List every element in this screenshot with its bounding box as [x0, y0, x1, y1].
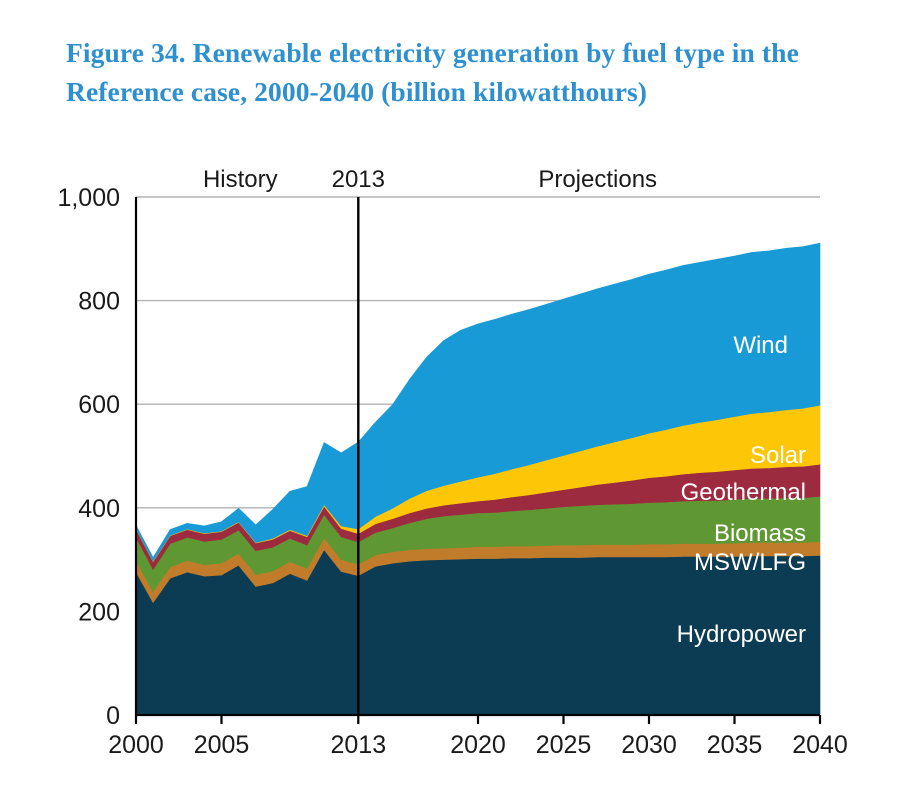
- y-tick-label-600: 600: [78, 391, 120, 419]
- series-label-biomass: Biomass: [714, 520, 806, 547]
- x-tick-label-2020: 2020: [450, 731, 506, 759]
- region-annotations: History 2013 Projections: [203, 166, 657, 193]
- series-label-wind: Wind: [733, 332, 788, 359]
- series-label-geothermal: Geothermal: [681, 479, 806, 506]
- y-axis-tick-labels: 02004006008001,000: [57, 184, 120, 730]
- series-label-msw-lfg: MSW/LFG: [694, 549, 806, 576]
- annotation-history: History: [203, 166, 278, 193]
- x-tick-label-2030: 2030: [621, 731, 677, 759]
- annotation-divider-year: 2013: [332, 166, 385, 193]
- x-tick-label-2025: 2025: [536, 731, 592, 759]
- chart-area: 02004006008001,000 200020052013202020252…: [0, 0, 900, 800]
- series-label-hydropower: Hydropower: [677, 621, 806, 648]
- annotation-projections: Projections: [538, 166, 657, 193]
- x-axis-tick-labels: 20002005201320202025203020352040: [108, 731, 848, 759]
- series-label-solar: Solar: [750, 442, 806, 469]
- y-tick-label-1000: 1,000: [57, 184, 120, 212]
- x-tick-label-2040: 2040: [792, 731, 848, 759]
- x-tick-label-2000: 2000: [108, 731, 164, 759]
- x-tick-label-2005: 2005: [194, 731, 250, 759]
- x-tick-label-2035: 2035: [707, 731, 763, 759]
- x-tick-label-2013: 2013: [330, 731, 386, 759]
- y-tick-label-200: 200: [78, 598, 120, 626]
- y-tick-label-800: 800: [78, 288, 120, 316]
- y-tick-label-400: 400: [78, 495, 120, 523]
- y-tick-label-0: 0: [106, 702, 120, 730]
- figure-root: Figure 34. Renewable electricity generat…: [0, 0, 900, 800]
- chart-svg: 02004006008001,000 200020052013202020252…: [0, 0, 900, 800]
